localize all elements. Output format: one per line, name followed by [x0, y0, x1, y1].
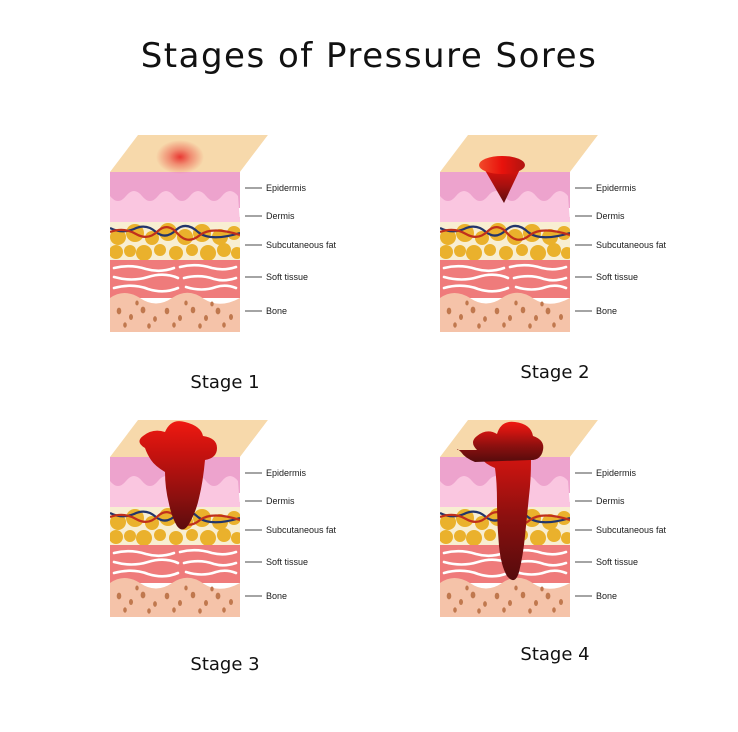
label-dermis: Dermis — [596, 496, 625, 506]
label-bone: Bone — [266, 306, 287, 316]
label-subcutaneous-fat: Subcutaneous fat — [266, 240, 337, 250]
label-bone: Bone — [266, 591, 287, 601]
caption-stage-4: Stage 4 — [420, 644, 690, 665]
label-epidermis: Epidermis — [596, 183, 637, 193]
label-subcutaneous-fat: Subcutaneous fat — [596, 525, 667, 535]
label-epidermis: Epidermis — [596, 468, 637, 478]
label-dermis: Dermis — [266, 496, 295, 506]
label-dermis: Dermis — [596, 211, 625, 221]
label-soft-tissue: Soft tissue — [596, 272, 638, 282]
label-epidermis: Epidermis — [266, 468, 307, 478]
caption-stage-3: Stage 3 — [90, 654, 360, 675]
label-bone: Bone — [596, 306, 617, 316]
label-soft-tissue: Soft tissue — [266, 557, 308, 567]
caption-stage-1: Stage 1 — [90, 372, 360, 393]
label-dermis: Dermis — [266, 211, 295, 221]
label-soft-tissue: Soft tissue — [266, 272, 308, 282]
caption-stage-2: Stage 2 — [420, 362, 690, 383]
label-soft-tissue: Soft tissue — [596, 557, 638, 567]
label-subcutaneous-fat: Subcutaneous fat — [596, 240, 667, 250]
page-title: Stages of Pressure Sores — [0, 36, 738, 76]
label-subcutaneous-fat: Subcutaneous fat — [266, 525, 337, 535]
pressure-sore-stage-1 — [156, 140, 204, 174]
label-epidermis: Epidermis — [266, 183, 307, 193]
label-bone: Bone — [596, 591, 617, 601]
